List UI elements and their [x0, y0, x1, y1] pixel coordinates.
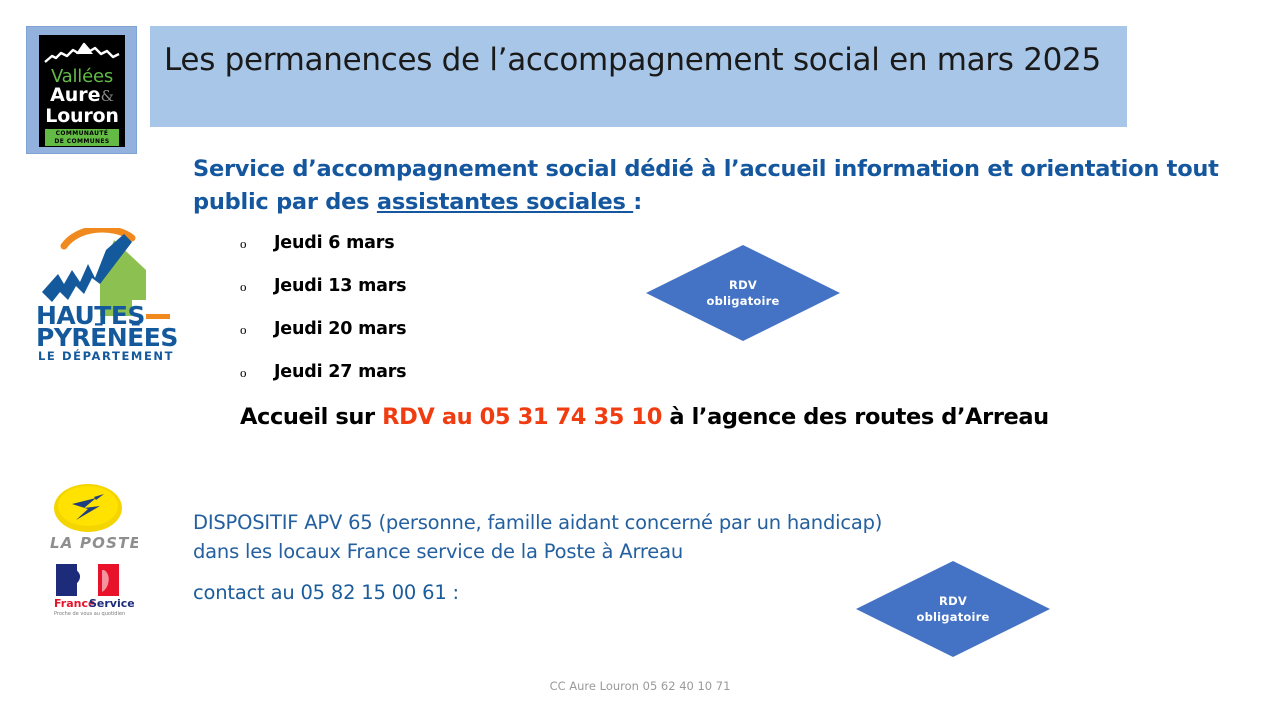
cc-logo-band: COMMUNAUTÉ DE COMMUNES [45, 129, 119, 146]
apv-paragraph-line-1: DISPOSITIF APV 65 (personne, famille aid… [193, 508, 1193, 537]
list-item: o Jeudi 20 mars [240, 318, 620, 361]
section-1-heading: Service d’accompagnement social dédié à … [193, 153, 1233, 219]
cc-aure-louron-logo: Vallées Aure& Louron COMMUNAUTÉ DE COMMU… [26, 26, 137, 154]
hautes-pyrenees-logo: HAUTES PYRĒNĒES LE DÉPARTEMENT [28, 228, 178, 363]
cc-logo-line-aure-row: Aure& [39, 86, 125, 105]
title-banner: Les permanences de l’accompagnement soci… [150, 26, 1127, 127]
slide-canvas: Vallées Aure& Louron COMMUNAUTÉ DE COMMU… [0, 0, 1280, 720]
diamond-label: RDV obligatoire [645, 244, 841, 342]
svg-text:LE DÉPARTEMENT: LE DÉPARTEMENT [38, 348, 174, 363]
hautes-pyrenees-logo-artwork: HAUTES PYRĒNĒES LE DÉPARTEMENT [28, 228, 178, 363]
rdv-obligatoire-diamond-2: RDV obligatoire [855, 560, 1051, 658]
cc-logo-band-line-2: DE COMMUNES [45, 138, 119, 146]
svg-text:LA POSTE: LA POSTE [50, 534, 138, 552]
svg-text:Services: Services [89, 597, 134, 610]
permanence-date-list: o Jeudi 6 mars o Jeudi 13 mars o Jeudi 2… [240, 232, 620, 404]
list-item-label: Jeudi 27 mars [274, 361, 406, 383]
diamond-label: RDV obligatoire [855, 560, 1051, 658]
la-poste-logo: LA POSTE [38, 480, 138, 552]
list-item-label: Jeudi 6 mars [274, 232, 394, 254]
section-1-heading-text: Service d’accompagnement social dédié à … [193, 156, 1219, 215]
list-item-label: Jeudi 13 mars [274, 275, 406, 297]
diamond-label-line-2: obligatoire [706, 293, 779, 309]
apv-contact-line: contact au 05 82 15 00 61 : [193, 578, 459, 607]
bullet-circle-icon: o [240, 362, 274, 384]
list-item: o Jeudi 13 mars [240, 275, 620, 318]
diamond-label-line-1: RDV [729, 277, 757, 293]
list-item-label: Jeudi 20 mars [274, 318, 406, 340]
slide-footer: CC Aure Louron 05 62 40 10 71 [0, 679, 1280, 693]
cc-logo-artwork: Vallées Aure& Louron COMMUNAUTÉ DE COMMU… [39, 35, 125, 147]
accueil-prefix: Accueil sur [240, 404, 382, 430]
bullet-circle-icon: o [240, 233, 274, 255]
cc-logo-band-line-1: COMMUNAUTÉ [45, 130, 119, 138]
cc-logo-line-aure: Aure [50, 84, 101, 106]
france-services-logo-artwork: France Services Proche de vous au quotid… [42, 562, 134, 616]
section-1-heading-colon: : [633, 189, 642, 215]
cc-logo-line-louron: Louron [39, 107, 125, 126]
list-item: o Jeudi 27 mars [240, 361, 620, 404]
accueil-suffix: à l’agence des routes d’Arreau [662, 404, 1049, 430]
svg-text:PYRĒNĒES: PYRĒNĒES [36, 323, 178, 352]
bullet-circle-icon: o [240, 319, 274, 341]
mountain-icon [43, 40, 121, 66]
accueil-phone-number: RDV au 05 31 74 35 10 [382, 404, 662, 430]
list-item: o Jeudi 6 mars [240, 232, 620, 275]
cc-logo-ampersand: & [101, 87, 114, 105]
la-poste-logo-artwork: LA POSTE [38, 480, 138, 552]
diamond-label-line-2: obligatoire [916, 609, 989, 625]
diamond-label-line-1: RDV [939, 593, 967, 609]
slide-title: Les permanences de l’accompagnement soci… [164, 36, 1113, 84]
svg-text:Proche de vous au quotidien: Proche de vous au quotidien [54, 611, 125, 616]
rdv-obligatoire-diamond-1: RDV obligatoire [645, 244, 841, 342]
section-1-heading-underlined: assistantes sociales [377, 189, 633, 215]
accueil-rdv-line: Accueil sur RDV au 05 31 74 35 10 à l’ag… [240, 404, 1260, 430]
apv-paragraph: DISPOSITIF APV 65 (personne, famille aid… [193, 508, 1193, 566]
france-services-logo: France Services Proche de vous au quotid… [42, 562, 134, 616]
bullet-circle-icon: o [240, 276, 274, 298]
